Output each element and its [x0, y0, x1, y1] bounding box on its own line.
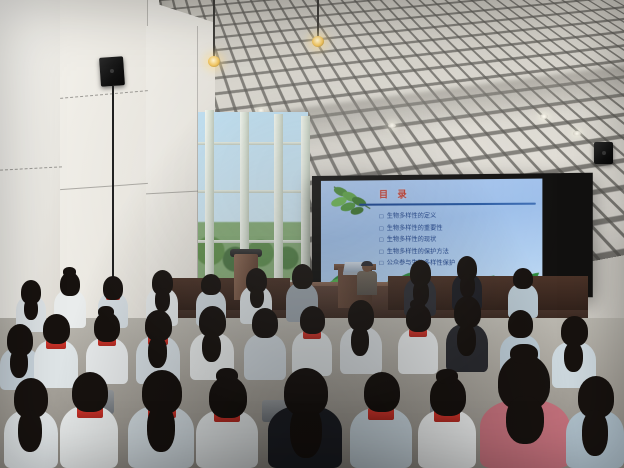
person-ponytail — [582, 410, 608, 456]
slide-divider — [359, 203, 535, 206]
person-hair — [72, 372, 108, 412]
person-ponytail — [460, 274, 475, 298]
person-ponytail — [10, 348, 28, 378]
audience-person — [128, 370, 194, 468]
pendant-bulb-icon — [208, 56, 220, 67]
audience-person — [340, 300, 382, 374]
speaker-cone-icon — [110, 68, 114, 72]
person-hair — [252, 308, 278, 338]
seated-audience — [0, 250, 624, 468]
person-hair — [364, 372, 400, 412]
person-ponytail — [506, 396, 544, 444]
person-hair-bun — [510, 344, 538, 364]
audience-person — [196, 376, 258, 468]
audience-person-adult — [480, 354, 570, 468]
slide-bullet-item: 生物多样性的现状 — [379, 234, 529, 246]
speaker-right — [594, 142, 613, 164]
person-hair — [292, 264, 313, 289]
person-ponytail — [457, 324, 476, 356]
person-ponytail — [148, 336, 167, 368]
person-ponytail — [147, 404, 175, 452]
audience-person — [4, 378, 58, 468]
person-hair-bun — [98, 306, 114, 318]
audience-person — [398, 304, 438, 374]
person-hair — [513, 268, 533, 289]
downlight-5 — [388, 123, 396, 128]
speaker-left — [99, 56, 125, 87]
audience-person — [566, 376, 624, 468]
person-hair — [103, 276, 123, 300]
person-hair-bun — [410, 299, 425, 310]
person-ponytail — [351, 326, 369, 356]
pendant-bulb-icon — [312, 36, 324, 47]
lecture-hall-photo: 目 录 生物多样性的定义 生物多样性的重要性 生物多样性的现状 生物多样性的保护… — [0, 0, 624, 468]
audience-person — [60, 372, 118, 468]
person-hair-bun — [436, 369, 458, 384]
slide-bullet-item: 生物多样性的重要性 — [379, 222, 529, 234]
person-ponytail — [202, 332, 221, 362]
audience-person — [418, 376, 476, 468]
person-ponytail — [290, 404, 322, 458]
person-hair-bun — [63, 267, 76, 277]
person-hair — [508, 310, 533, 338]
audience-person — [292, 306, 332, 376]
person-hair-bun — [216, 368, 238, 384]
person-hair — [43, 314, 70, 344]
person-hair — [201, 274, 221, 295]
pendant-light-1 — [213, 0, 215, 58]
person-hair — [300, 306, 325, 334]
audience-person — [350, 372, 412, 468]
leaf-branch-icon — [329, 182, 375, 217]
slide-title: 目 录 — [379, 187, 410, 200]
downlight-6 — [540, 114, 548, 119]
person-ponytail — [155, 288, 170, 312]
speaker-cone-icon — [602, 151, 606, 155]
downlight-7 — [573, 131, 581, 136]
audience-person — [268, 368, 342, 468]
slide-bullet-item: 生物多样性的定义 — [379, 210, 529, 222]
person-ponytail — [18, 410, 42, 452]
person-ponytail — [250, 286, 264, 308]
pendant-light-2 — [317, 0, 319, 38]
